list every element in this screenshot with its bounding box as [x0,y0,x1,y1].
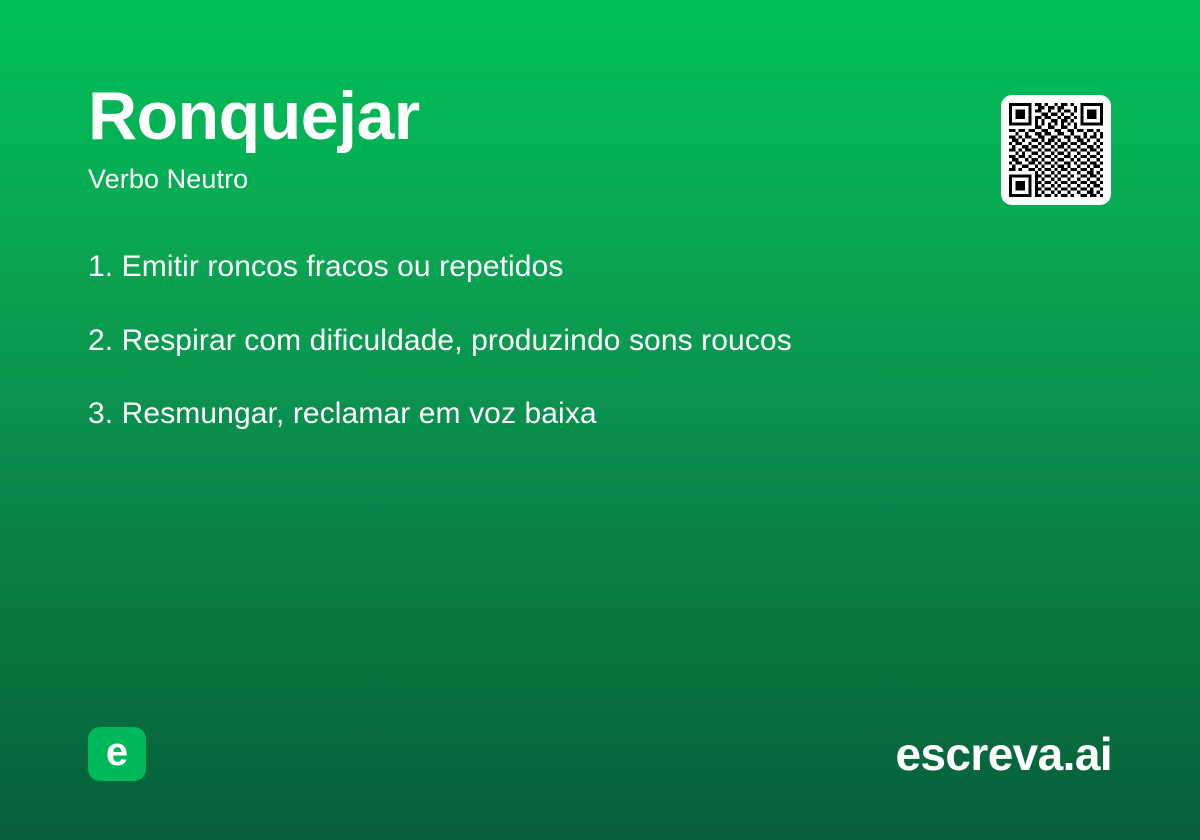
list-item: 1. Emitir roncos fracos ou repetidos [88,248,1112,286]
card-header: Ronquejar Verbo Neutro [88,82,1112,195]
word-definition-card: Ronquejar Verbo Neutro 1. Emitir roncos … [0,0,1200,840]
list-item: 3. Resmungar, reclamar em voz baixa [88,395,1112,433]
brand-logo-icon: e [88,727,146,781]
qr-code-icon [1009,103,1103,197]
card-footer: e escreva.ai [88,726,1112,782]
list-item: 2. Respirar com dificuldade, produzindo … [88,322,1112,360]
word-class-label: Verbo Neutro [88,164,1112,195]
qr-code[interactable] [1001,95,1111,205]
page-title: Ronquejar [88,82,1112,150]
definition-list: 1. Emitir roncos fracos ou repetidos 2. … [88,248,1112,433]
brand-logo-letter: e [106,732,128,772]
brand-wordmark: escreva.ai [895,731,1112,777]
